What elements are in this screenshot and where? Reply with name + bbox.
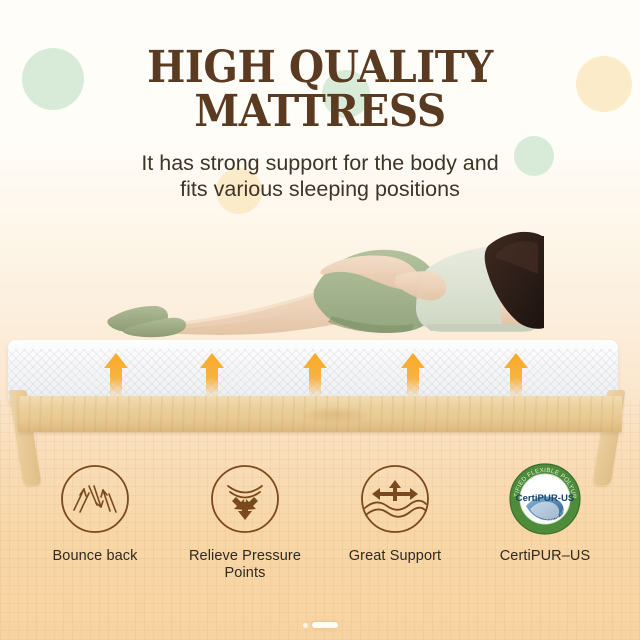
feature-label-bounce-back: Bounce back — [53, 548, 138, 565]
great-support-icon — [358, 462, 432, 536]
feature-bounce-back[interactable]: Bounce back — [20, 462, 170, 565]
carousel-active-pill[interactable] — [312, 622, 338, 628]
support-arrow-5 — [503, 352, 529, 398]
relieve-pressure-icon — [208, 462, 282, 536]
header-block: HIGH QUALITY MATTRESS It has strong supp… — [0, 46, 640, 202]
product-image-slide: HIGH QUALITY MATTRESS It has strong supp… — [0, 0, 640, 640]
certipur-us-seal-icon: CERTIPUR CERTIFIED FLEXIBLE POLYURETHANE… — [508, 462, 582, 536]
subtitle-line-1: It has strong support for the body and — [141, 151, 498, 175]
feature-relieve-pressure[interactable]: Relieve Pressure Points — [170, 462, 320, 583]
feature-label-great-support: Great Support — [349, 548, 441, 565]
relieve-pressure-line-2: Points — [225, 565, 266, 581]
carousel-indicator[interactable] — [0, 622, 640, 628]
feature-row: Bounce back Relieve Pressure Points — [0, 462, 640, 602]
mattress-top-surface — [8, 340, 618, 349]
support-arrow-4 — [400, 352, 426, 398]
page-title: HIGH QUALITY MATTRESS — [26, 46, 615, 134]
feature-great-support[interactable]: Great Support — [320, 462, 470, 565]
carousel-dot[interactable] — [303, 623, 308, 628]
seal-center-text: CertiPUR-US — [516, 493, 575, 504]
mattress-scene — [0, 200, 640, 500]
bounce-back-icon — [58, 462, 132, 536]
relieve-pressure-line-1: Relieve Pressure — [189, 548, 301, 564]
person-lying-illustration — [96, 224, 544, 344]
feature-certipur-us[interactable]: CERTIPUR CERTIFIED FLEXIBLE POLYURETHANE… — [470, 462, 620, 565]
subtitle-line-2: fits various sleeping positions — [180, 177, 460, 201]
support-arrow-1 — [103, 352, 129, 398]
support-arrow-3 — [302, 352, 328, 398]
mattress — [8, 340, 618, 402]
page-subtitle: It has strong support for the body and f… — [0, 150, 640, 202]
wood-grain-knot — [300, 406, 370, 424]
feature-label-relieve-pressure: Relieve Pressure Points — [189, 548, 301, 583]
support-arrow-2 — [199, 352, 225, 398]
feature-label-certipur-us: CertiPUR–US — [500, 548, 591, 565]
